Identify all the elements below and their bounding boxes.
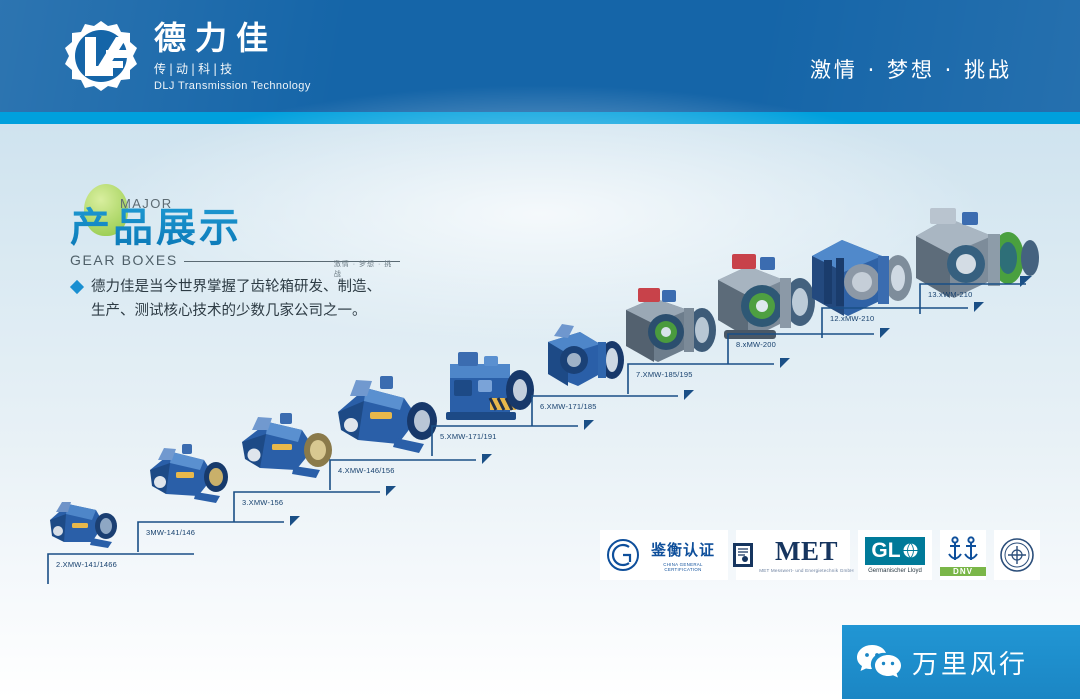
product-label-5: 5.XMW-171/191: [440, 432, 497, 441]
diamond-bullet-icon: [70, 280, 84, 294]
cert-cgc-label-en: CHINA GENERAL CERTIFICATION: [644, 562, 722, 572]
cgc-logo-icon: [606, 538, 640, 572]
product-label-7: 7.XMW-185/195: [636, 370, 693, 379]
cert-gl-caption: Germanischer Lloyd: [868, 568, 922, 574]
page-title: 产品展示: [70, 186, 400, 248]
gl-globe-icon: [902, 542, 919, 559]
title-subrow: GEAR BOXES 激情 · 梦想 · 挑战: [70, 252, 400, 268]
brand-tagline-cn: 传|动|科|技: [154, 60, 311, 77]
gearbox-image-4: [322, 368, 440, 460]
cert-met-sub: MET Messwert- und Energietechnik GmbH: [759, 568, 854, 573]
description-line-1: 德力佳是当今世界掌握了齿轮箱研发、制造、: [91, 279, 381, 295]
description-line-2: 生产、测试核心技术的少数几家公司之一。: [91, 303, 367, 319]
product-showcase-poster: 德力佳 传|动|科|技 DLJ Transmission Technology …: [0, 0, 1080, 699]
certification-logos: 鉴衡认证 CHINA GENERAL CERTIFICATION MET MET…: [600, 530, 1040, 580]
title-rule: 激情 · 梦想 · 挑战: [184, 261, 400, 262]
certification-seal-icon: [999, 537, 1035, 573]
gearbox-image-1: [38, 490, 130, 555]
gl-badge: GL: [865, 537, 924, 565]
met-book-icon: [732, 541, 754, 569]
cert-gl-word: GL: [871, 539, 900, 563]
product-label-4: 4.XMW-146/156: [338, 466, 395, 475]
description-text: 德力佳是当今世界掌握了齿轮箱研发、制造、 生产、测试核心技术的少数几家公司之一。: [91, 276, 381, 324]
title-subtitle-en: GEAR BOXES: [70, 252, 178, 268]
cert-seal: [994, 530, 1040, 580]
cert-met: MET MET Messwert- und Energietechnik Gmb…: [736, 530, 850, 580]
product-label-10: 13.xWM-210: [928, 290, 973, 299]
product-label-8: 8.xMW-200: [736, 340, 776, 349]
cert-dnv: DNV: [940, 530, 986, 580]
product-label-group-10: 13.xWM-210: [916, 276, 1046, 318]
gearbox-image-2: [136, 436, 236, 511]
product-label-3: 3.XMW-156: [242, 498, 283, 507]
cert-cgc: 鉴衡认证 CHINA GENERAL CERTIFICATION: [600, 530, 728, 580]
cert-cgc-label-cn: 鉴衡认证: [651, 539, 715, 560]
brand-text: 德力佳 传|动|科|技 DLJ Transmission Technology: [154, 22, 311, 92]
dnv-anchor-icon: [944, 535, 982, 565]
cert-met-word: MET: [775, 538, 838, 565]
cert-gl: GL Germanischer Lloyd: [858, 530, 932, 580]
product-label-9: 12.xMW-210: [830, 314, 874, 323]
wechat-icon: [856, 643, 902, 681]
watermark-text: 万里风行: [912, 644, 1028, 681]
product-label-2: 3MW-141/146: [146, 528, 195, 537]
product-label-6: 6.XMW-171/185: [540, 402, 597, 411]
description-block: 德力佳是当今世界掌握了齿轮箱研发、制造、 生产、测试核心技术的少数几家公司之一。: [72, 276, 432, 324]
wechat-watermark: 万里风行: [842, 625, 1080, 699]
brand-name-cn: 德力佳: [154, 22, 311, 56]
header-slogan: 激情 · 梦想 · 挑战: [810, 54, 1012, 84]
product-label-1: 2.XMW-141/1466: [56, 560, 117, 569]
section-title: MAJOR 产品展示 GEAR BOXES 激情 · 梦想 · 挑战: [70, 186, 400, 268]
cert-dnv-word: DNV: [940, 567, 986, 576]
